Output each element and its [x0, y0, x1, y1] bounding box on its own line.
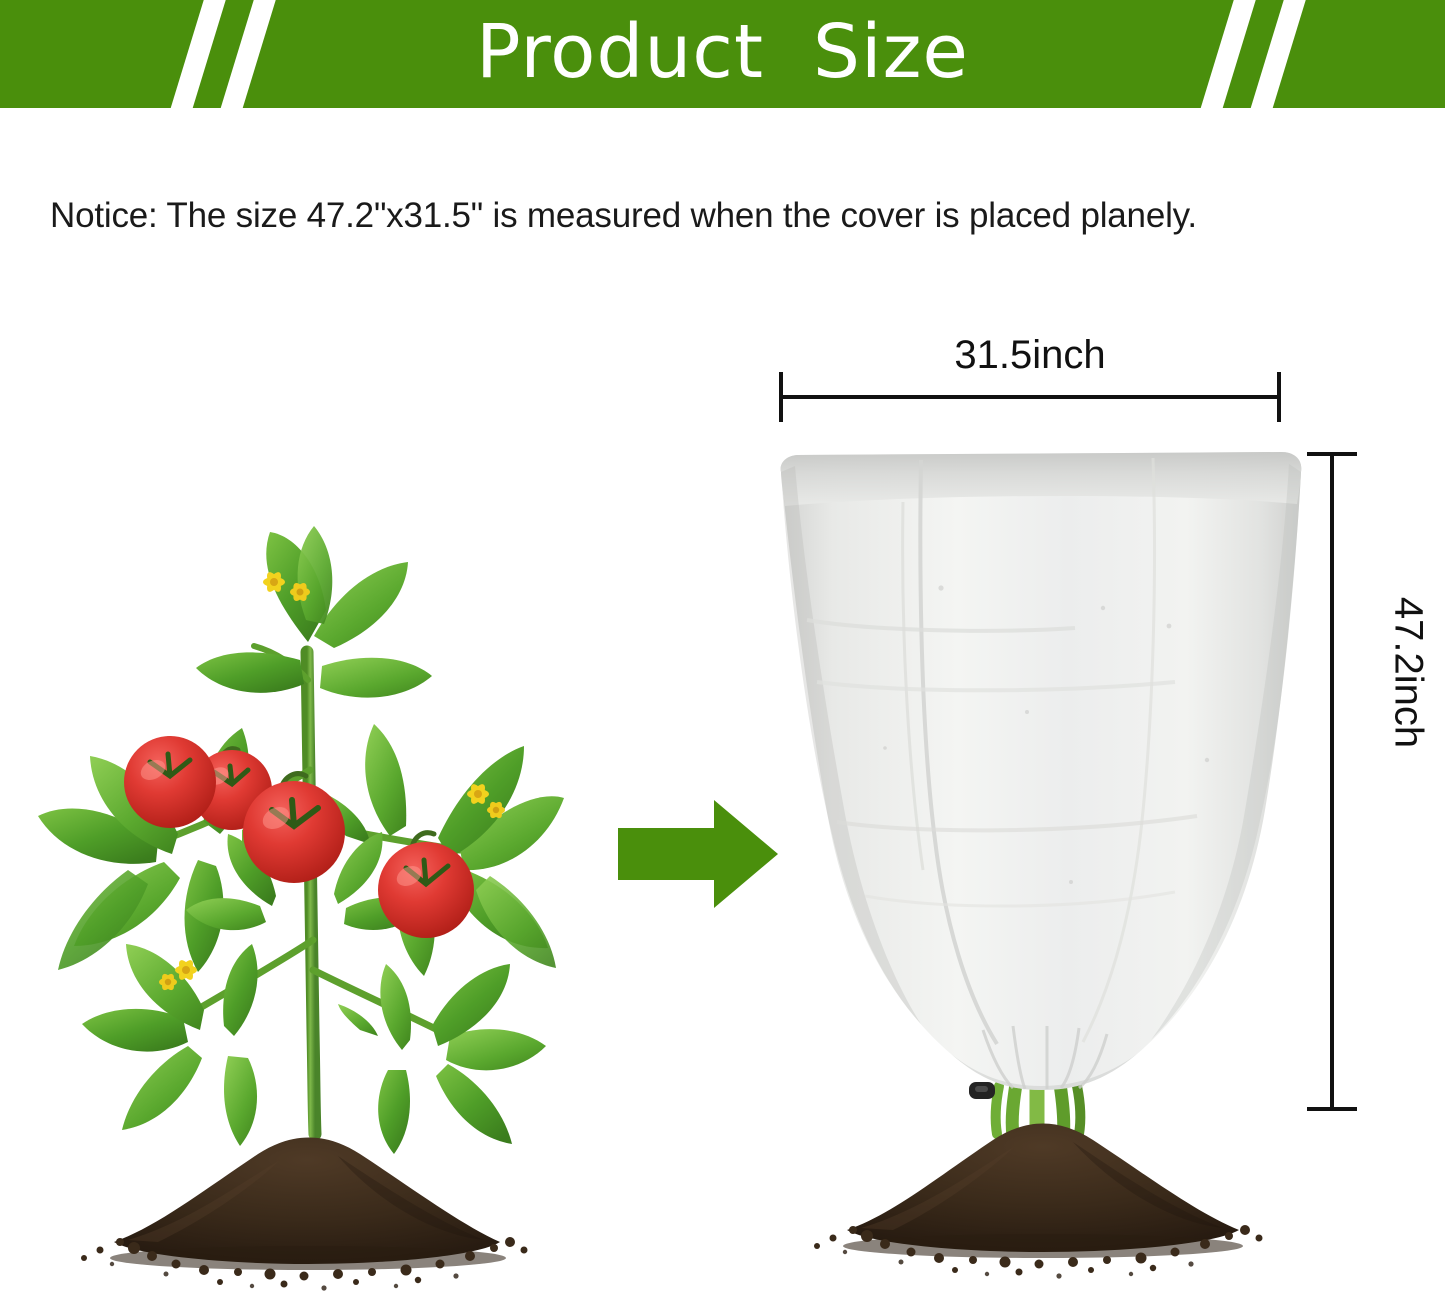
width-dimension-label: 31.5inch [780, 333, 1280, 378]
header-banner: Product Size [0, 0, 1445, 108]
page-title: Product Size [0, 0, 1445, 108]
product-size-infographic: Product Size Notice: The size 47.2"x31.5… [0, 0, 1445, 1306]
frost-cover-body [781, 452, 1302, 1090]
width-dimension-line [781, 395, 1279, 399]
leaf-cluster-lower-right [338, 964, 546, 1154]
width-dimension-cap-right [1277, 372, 1281, 422]
leaf-cluster-top [196, 526, 432, 698]
drawstring-toggle-icon [969, 1082, 995, 1099]
tomato-fruit-2 [124, 736, 216, 828]
width-dimension-cap-left [779, 372, 783, 422]
notice-text: Notice: The size 47.2"x31.5" is measured… [50, 196, 1410, 236]
soil-mound-right [814, 1124, 1263, 1279]
height-dimension-label: 47.2inch [1386, 533, 1431, 813]
tomato-plant-illustration [8, 470, 568, 1300]
soil-mound-left [81, 1138, 528, 1291]
covered-plant-illustration [745, 430, 1345, 1300]
